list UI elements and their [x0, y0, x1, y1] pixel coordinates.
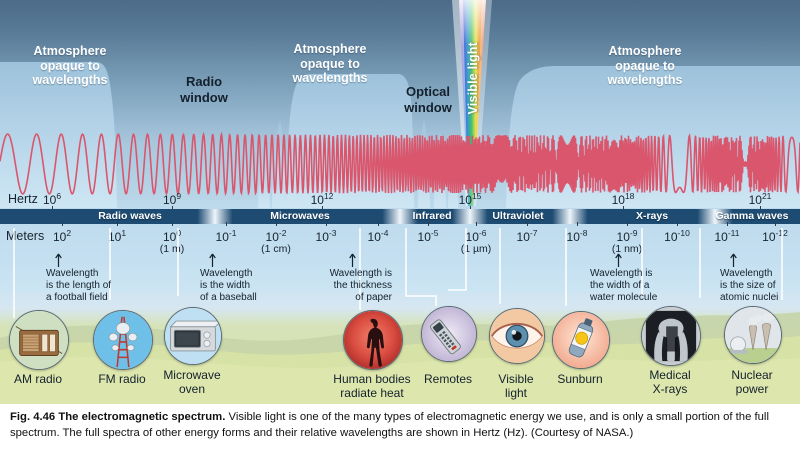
visible-light-label: Visible light: [466, 42, 480, 115]
optical-window-label: Optical window: [378, 84, 478, 116]
microwave-oven-icon: [164, 307, 222, 365]
wavelength-callout: Wavelength is the width of a water molec…: [590, 268, 685, 303]
sunscreen-icon: [552, 311, 610, 369]
callout-arrow-icon: [615, 253, 622, 267]
atmosphere-label-left: Atmosphere opaque to wavelengths: [0, 44, 140, 88]
icon-label: Sunburn: [530, 372, 630, 386]
radio-window-label: Radio window: [144, 74, 264, 106]
callout-arrow-icon: [349, 253, 356, 267]
callout-arrow-icon: [55, 253, 62, 267]
atmosphere-label-middle: Atmosphere opaque to wavelengths: [260, 42, 400, 86]
icon-label: Nuclear power: [702, 368, 800, 396]
caption-figure-number: Fig. 4.46: [10, 411, 55, 423]
human-body-icon: [343, 310, 403, 370]
am-radio-icon: [9, 310, 69, 370]
figure-caption: Fig. 4.46 The electromagnetic spectrum. …: [0, 404, 800, 456]
wavelength-callout: Wavelength is the thickness of paper: [297, 268, 392, 303]
icon-label: Microwave oven: [142, 368, 242, 396]
callout-arrow-icon: [730, 253, 737, 267]
atmosphere-label-right: Atmosphere opaque to wavelengths: [575, 44, 715, 88]
electromagnetic-spectrum-figure: Atmosphere opaque to wavelengths Atmosph…: [0, 0, 800, 404]
nuclear-plant-icon: [724, 306, 782, 364]
caption-title: The electromagnetic spectrum.: [58, 411, 225, 423]
radio-tower-icon: [93, 310, 153, 370]
wavelength-callout: Wavelength is the width of a baseball: [200, 268, 295, 303]
wavelength-callout: Wavelength is the length of a football f…: [46, 268, 141, 303]
eye-icon: [489, 308, 545, 364]
figure-page: Atmosphere opaque to wavelengths Atmosph…: [0, 0, 800, 456]
wavelength-callout: Wavelength is the size of atomic nuclei: [720, 268, 800, 303]
remote-control-icon: [421, 306, 477, 362]
callout-arrow-icon: [209, 253, 216, 267]
xray-image-icon: [641, 306, 701, 366]
